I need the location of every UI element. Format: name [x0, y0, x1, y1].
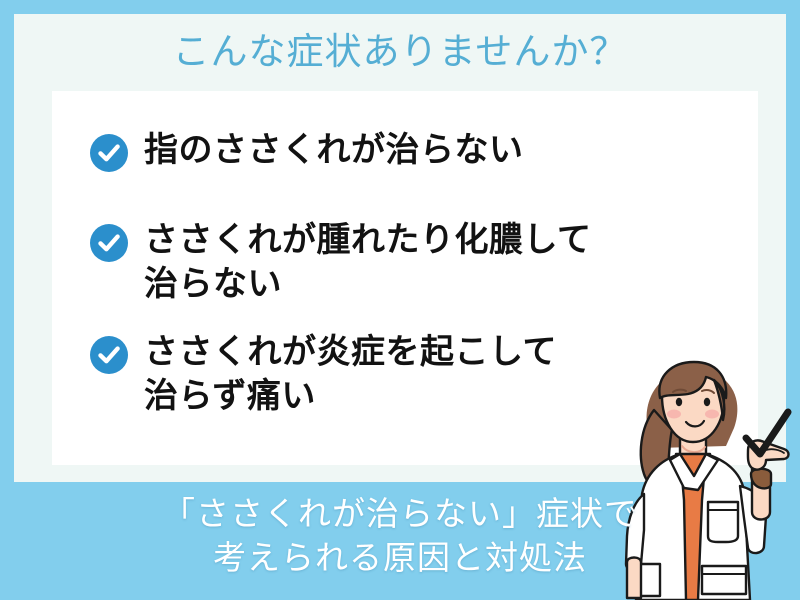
check-circle-icon [90, 224, 128, 262]
list-item: ささくれが腫れたり化膿して 治らない [90, 219, 591, 306]
check-circle-icon [90, 336, 128, 374]
symptom-banner: こんな症状ありませんか？ 指のささくれが治らない ささくれが腫れたり化膿して 治… [0, 0, 800, 600]
list-item-label: ささくれが腫れたり化膿して 治らない [144, 219, 591, 306]
list-item: ささくれが炎症を起こして 治らず痛い [90, 331, 557, 418]
list-item-label: ささくれが炎症を起こして 治らず痛い [144, 331, 557, 418]
check-circle-icon [90, 134, 128, 172]
list-item-label: 指のささくれが治らない [144, 129, 524, 173]
list-item: 指のささくれが治らない [90, 129, 524, 173]
page-title: こんな症状ありませんか？ [14, 30, 786, 74]
banner-caption: 「ささくれが治らない」症状で 考えられる原因と対処法 [0, 484, 800, 600]
